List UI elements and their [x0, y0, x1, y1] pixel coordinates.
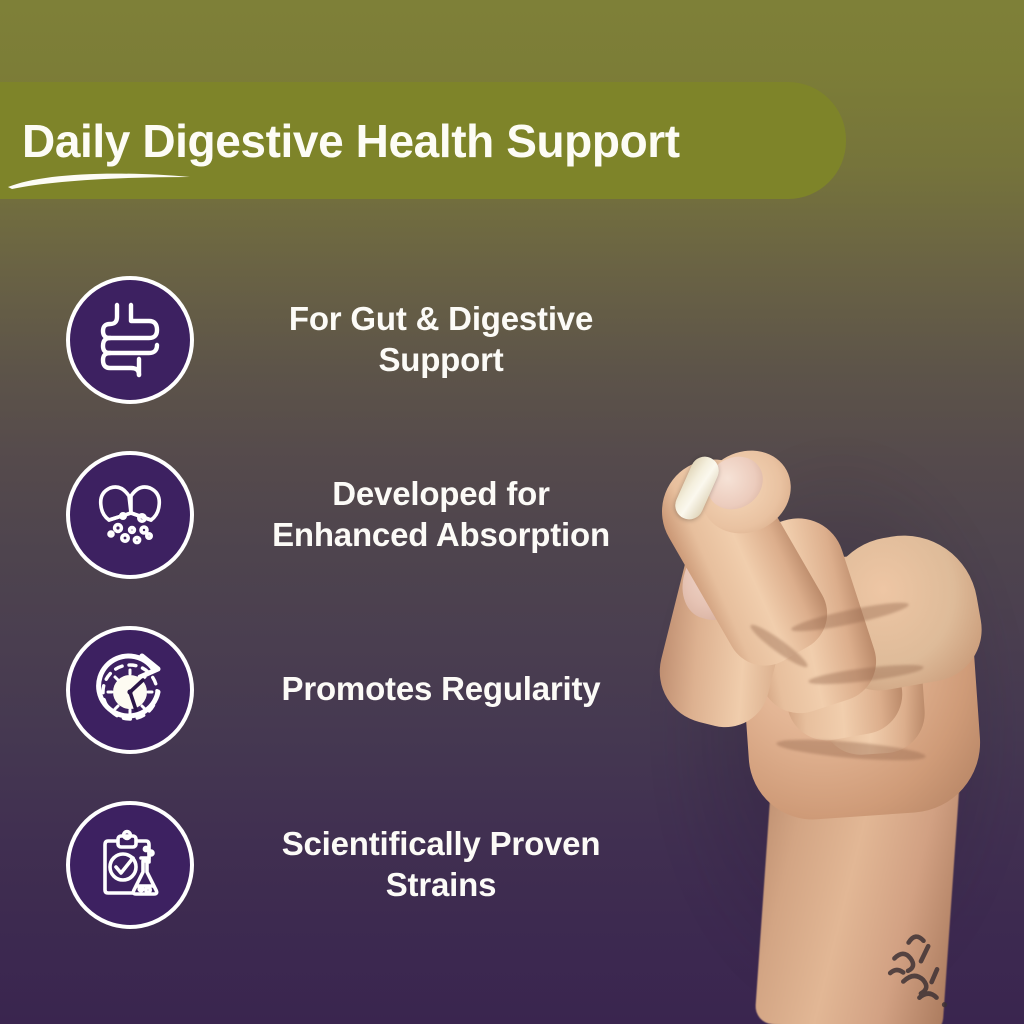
index-fingertip [687, 435, 806, 549]
finger-crease [808, 661, 925, 688]
title-banner: Daily Digestive Health Support [0, 82, 846, 199]
index-fingernail [697, 446, 773, 520]
forearm [754, 684, 965, 1024]
feature-item-gut-support: For Gut & Digestive Support [0, 252, 700, 427]
palm-crease [776, 735, 927, 764]
feature-label: Developed for Enhanced Absorption [194, 474, 700, 555]
finger-crease [790, 598, 910, 637]
wrist-tattoo [866, 917, 963, 1023]
feature-list: For Gut & Digestive Support [0, 252, 700, 952]
infographic-canvas: Daily Digestive Health Support For Gut &… [0, 0, 1024, 1024]
palm [735, 548, 985, 824]
page-title: Daily Digestive Health Support [22, 114, 680, 168]
clipboard-check-flask-icon [66, 801, 194, 929]
feature-item-proven-strains: Scientifically Proven Strains [0, 777, 700, 952]
hand-shadow [650, 430, 1024, 1024]
middle-finger [716, 506, 887, 723]
clock-arrow-regularity-icon [66, 626, 194, 754]
intestine-gut-icon [66, 276, 194, 404]
feature-label: Promotes Regularity [194, 669, 700, 709]
feature-item-promotes-regularity: Promotes Regularity [0, 602, 700, 777]
feature-label: For Gut & Digestive Support [194, 299, 700, 380]
feature-item-enhanced-absorption: Developed for Enhanced Absorption [0, 427, 700, 602]
feature-label: Scientifically Proven Strains [194, 824, 700, 905]
open-capsule-granules-icon [66, 451, 194, 579]
pinky-finger [813, 593, 928, 758]
knuckle-crease [747, 621, 811, 672]
ring-finger [763, 551, 908, 746]
knuckles [814, 524, 990, 698]
